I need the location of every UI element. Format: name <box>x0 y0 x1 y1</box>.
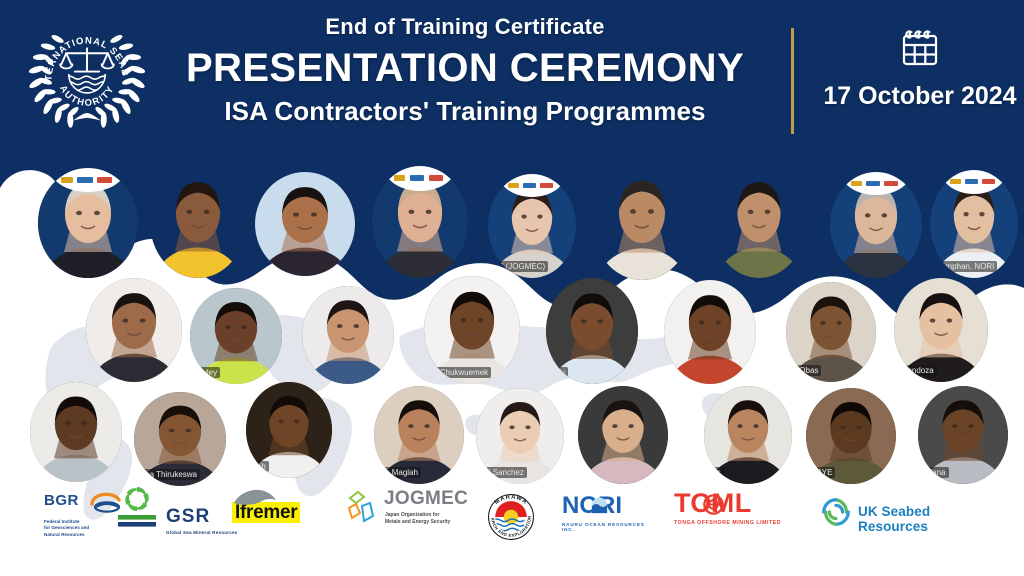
jogmec-logo-text: JOGMEC <box>384 488 468 510</box>
participant-photo: oumphan, NORI <box>930 170 1018 278</box>
participant-name-label: say <box>550 367 568 378</box>
participant-name-label: rai (JOGMEC) <box>492 261 549 272</box>
participant-name-label: Mendoza <box>898 365 937 376</box>
jogmec-logo: JOGMEC Japan Organization for Metals and… <box>344 486 474 530</box>
participant-photo <box>372 166 468 278</box>
participant-photo <box>150 166 246 278</box>
participant-name-label: oumphan, NORI <box>934 261 998 272</box>
participant-photo: ias <box>704 386 792 484</box>
nori-logo-subtitle: NAURU OCEAN RESOURCES INC. <box>562 522 654 532</box>
participant-video-frame <box>592 164 692 280</box>
participant-video-frame <box>86 278 182 382</box>
participant-photo: Diana <box>918 386 1008 484</box>
certificate-ceremony-banner: INTERNATIONAL SEABED AUTHORITY <box>0 0 1024 576</box>
participant-video-frame <box>30 382 122 482</box>
participant-photo: n Obas <box>786 282 876 382</box>
ifremer-dolphin-icon <box>232 487 278 507</box>
header-text-block: End of Training Certificate PRESENTATION… <box>150 4 780 128</box>
participant-name-label: n Obas <box>790 365 822 376</box>
participant-video-frame <box>664 280 756 384</box>
subtitle: ISA Contractors' Training Programmes <box>150 94 780 128</box>
participant-name-label: ry Chukwuemek <box>428 367 491 378</box>
nori-logo: NORI NAURU OCEAN RESOURCES INC. <box>562 492 654 532</box>
page-title: PRESENTATION CEREMONY <box>150 44 780 92</box>
nori-wave-icon <box>591 497 608 514</box>
participant-photo: awley <box>190 288 282 384</box>
bgr-logo-text: BGR <box>44 492 79 509</box>
participant-photo: nah <box>246 382 332 478</box>
participant-photo <box>592 164 692 280</box>
participant-photo <box>578 386 668 484</box>
participant-photo: ry Chukwuemek <box>424 276 520 384</box>
header-divider <box>791 28 794 134</box>
kicker-line: End of Training Certificate <box>150 12 780 42</box>
gsr-logo-text: GSR <box>166 506 210 528</box>
participant-video-frame <box>302 286 394 384</box>
gsr-mark-icon <box>116 484 158 528</box>
isa-emblem-icon: INTERNATIONAL SEABED AUTHORITY <box>26 12 148 136</box>
toml-target-icon <box>703 494 724 515</box>
participant-photo <box>38 168 138 278</box>
toml-logo: TOML TONGA OFFSHORE MINING LIMITED <box>674 488 792 530</box>
participant-photo <box>302 286 394 384</box>
ifremer-logo: Ifremer <box>232 502 300 524</box>
participant-name-label: nah <box>249 461 268 472</box>
participant-photo <box>664 280 756 384</box>
date-block: 17 October 2024 <box>820 26 1020 111</box>
gsr-logo-subtitle: Global Sea Mineral Resources <box>166 530 237 535</box>
participant-video-frame <box>578 386 668 484</box>
participant-video-frame <box>150 166 246 278</box>
participant-photo: eli Sanchez <box>476 388 564 484</box>
participant-photo <box>255 172 355 276</box>
participant-photo: Mendoza <box>894 278 988 382</box>
header: INTERNATIONAL SEABED AUTHORITY <box>0 0 1024 148</box>
participant-photo: say <box>546 278 638 384</box>
event-date: 17 October 2024 <box>820 82 1020 111</box>
calendar-icon <box>900 26 940 70</box>
toml-logo-subtitle: TONGA OFFSHORE MINING LIMITED <box>674 520 781 526</box>
uksr-swirl-icon <box>820 496 852 528</box>
uksr-logo-text: UK Seabed Resources <box>858 504 990 534</box>
participant-photo: uga Thirukeswa <box>134 392 226 486</box>
participant-photo: rai (JOGMEC) <box>488 174 576 278</box>
participant-photo: M. Maglah <box>374 386 464 484</box>
uksr-logo: UK Seabed Resources <box>820 498 990 530</box>
marawa-mark-icon: MARAWA RESEARCH AND EXPLORATION LTD <box>478 484 544 550</box>
jogmec-logo-subtitle: Japan Organization for Metals and Energy… <box>385 512 450 526</box>
participant-photo <box>30 382 122 482</box>
sponsor-logo-bar: BGR Federal Institute for Geosciences an… <box>0 476 1024 576</box>
participant-photo <box>830 172 922 278</box>
participant-photo <box>86 278 182 382</box>
jogmec-mark-icon <box>344 488 378 530</box>
participant-video-frame <box>712 166 806 278</box>
participant-name-label: awley <box>194 367 220 378</box>
marawa-logo: MARAWA RESEARCH AND EXPLORATION LTD <box>478 484 544 555</box>
participant-photo <box>712 166 806 278</box>
participant-video-frame <box>255 172 355 276</box>
participant-photo: FAYE <box>806 388 896 484</box>
